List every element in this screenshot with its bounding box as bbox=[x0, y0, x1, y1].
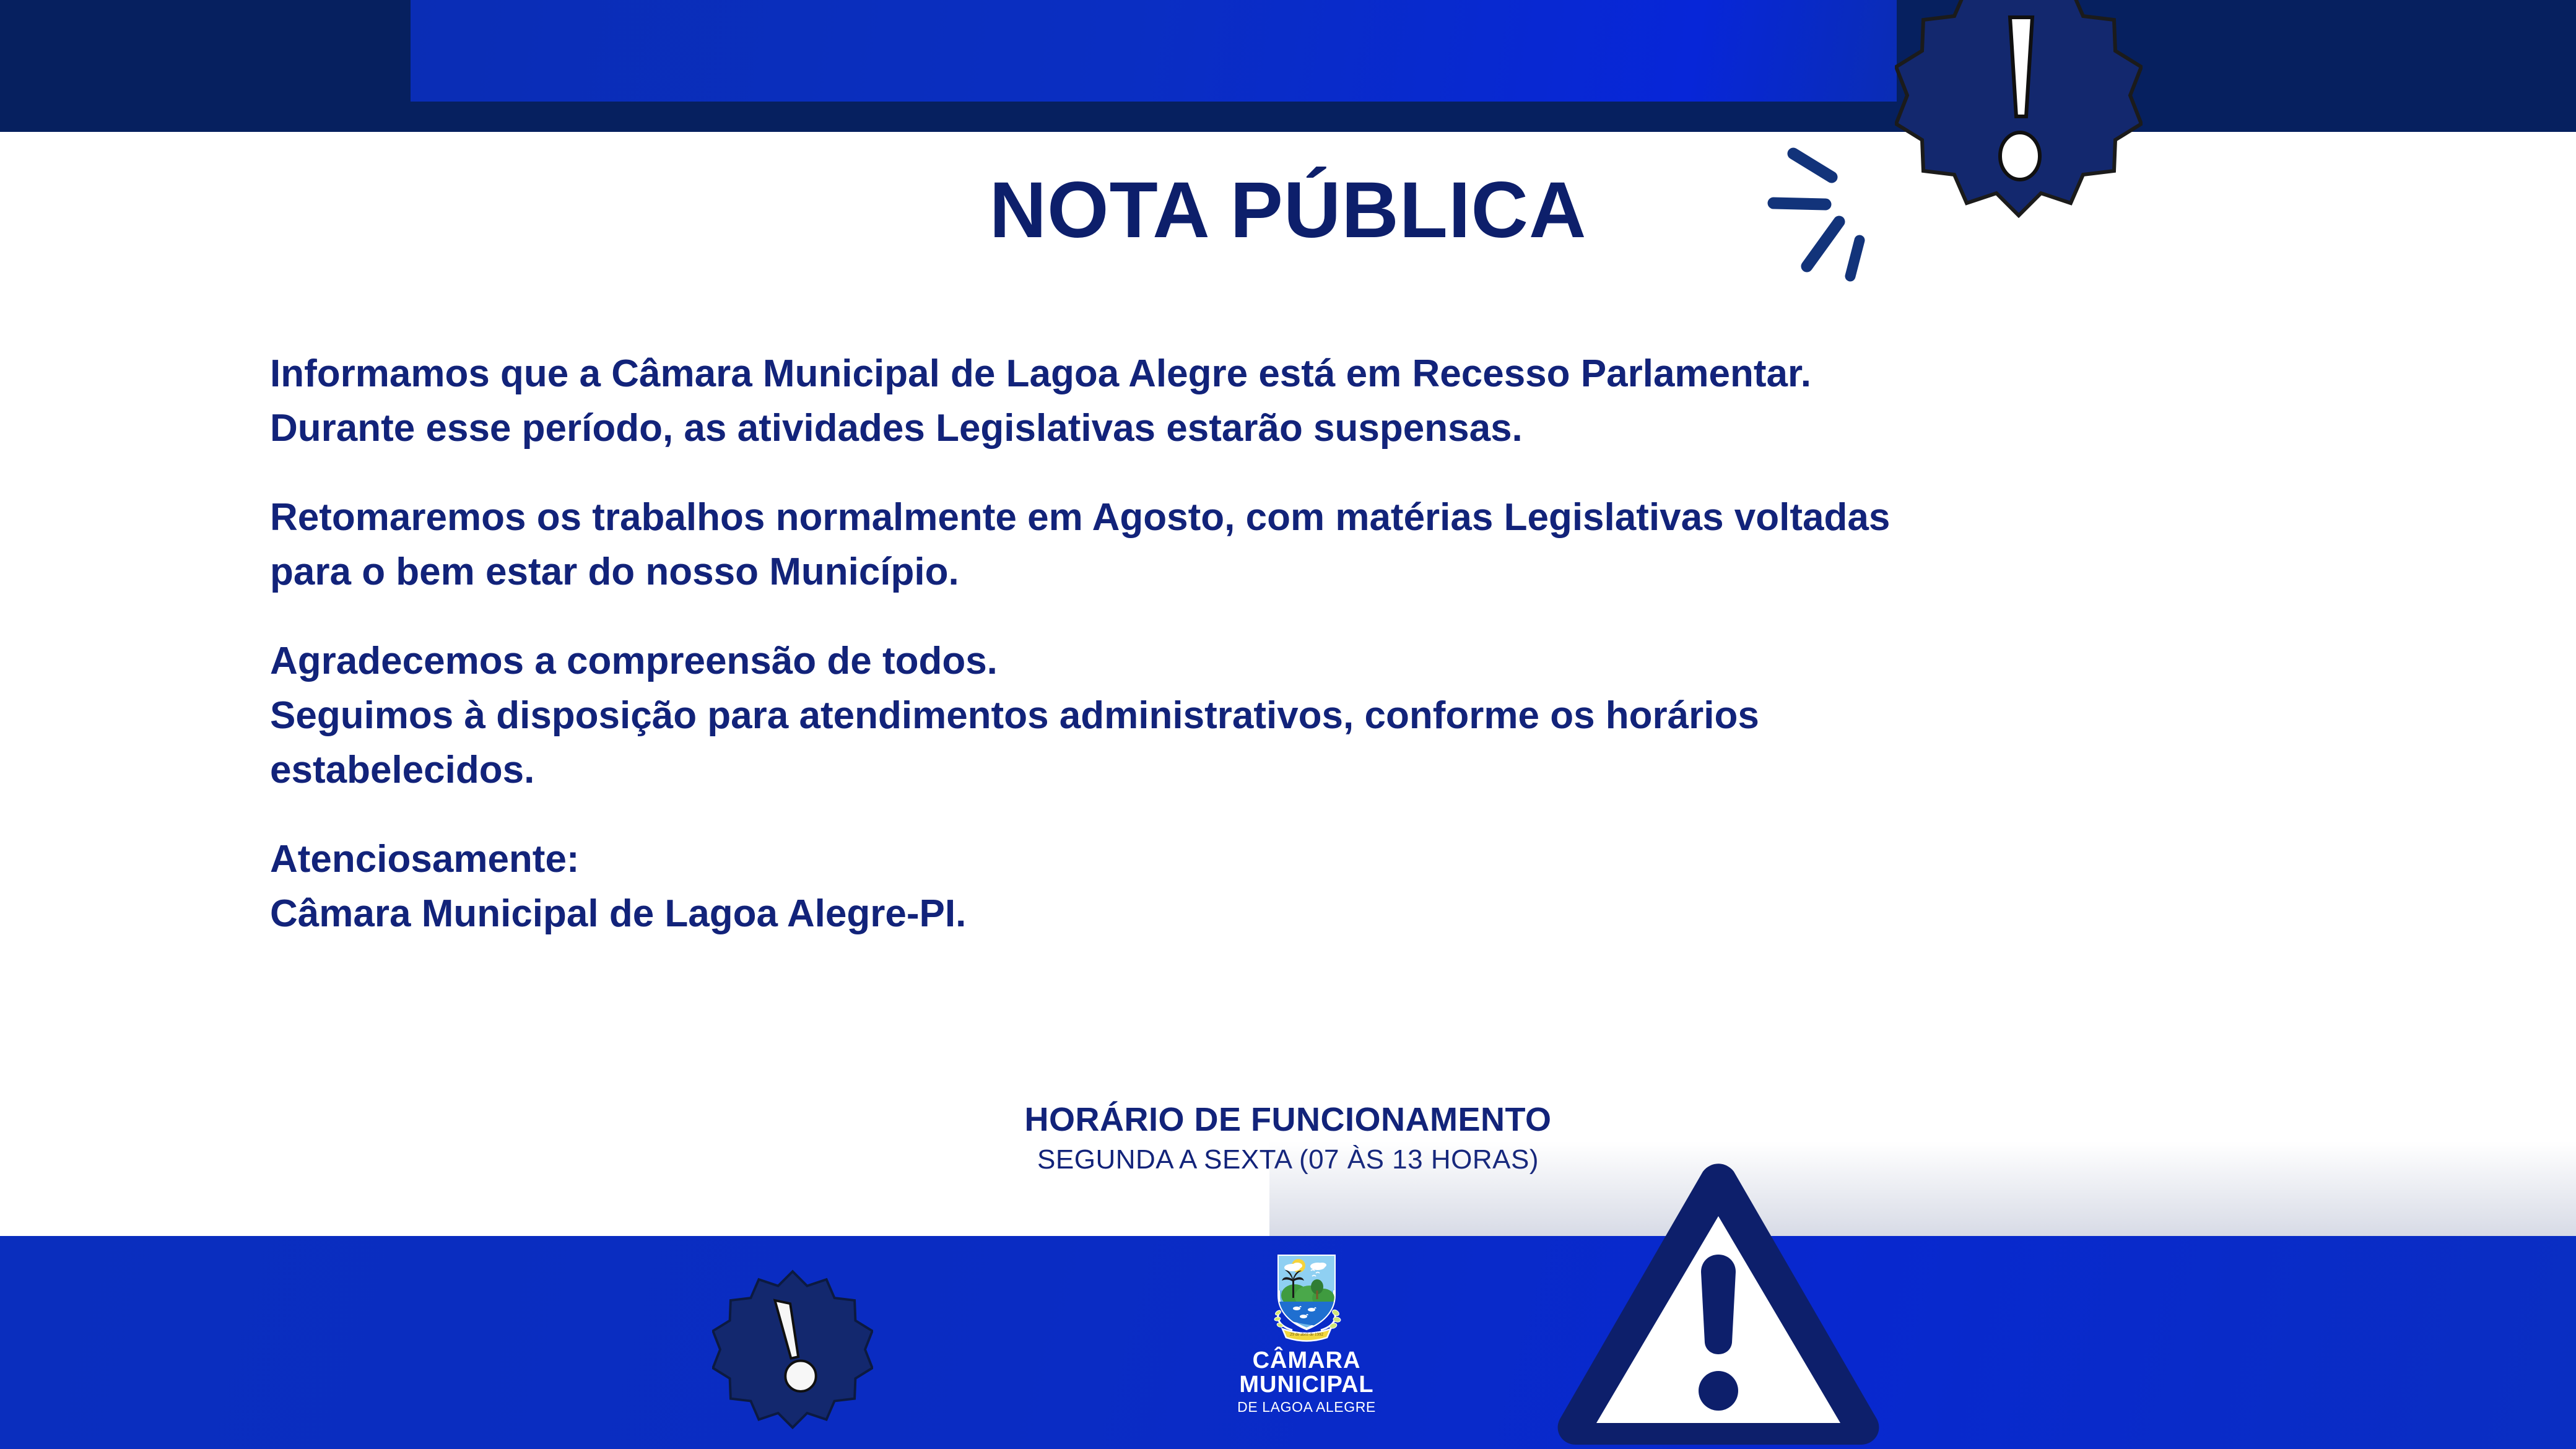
paragraph-1-line-1: Informamos que a Câmara Municipal de Lag… bbox=[270, 347, 2313, 401]
paragraph-3-line-2: Seguimos à disposição para atendimentos … bbox=[270, 689, 2313, 743]
opening-hours-title: HORÁRIO DE FUNCIONAMENTO bbox=[0, 1102, 2576, 1138]
page-title: NOTA PÚBLICA bbox=[0, 171, 2576, 250]
paragraph-3-line-1: Agradecemos a compreensão de todos. bbox=[270, 634, 2313, 689]
paragraph-2: Retomaremos os trabalhos normalmente em … bbox=[270, 490, 2313, 599]
paragraph-1-line-2: Durante esse período, as atividades Legi… bbox=[270, 401, 2313, 456]
exclamation-badge-icon bbox=[1895, 0, 2143, 218]
opening-hours-subtitle: SEGUNDA A SEXTA (07 ÀS 13 HORAS) bbox=[0, 1142, 2576, 1177]
warning-triangle-icon bbox=[1554, 1163, 1882, 1449]
footer-logo: 29 de abril de 1992 CÂMARA MUNICIPAL DE … bbox=[1214, 1251, 1399, 1416]
lagoa-alegre-coat-of-arms-icon: 29 de abril de 1992 bbox=[1269, 1251, 1344, 1344]
opening-hours-block: HORÁRIO DE FUNCIONAMENTO SEGUNDA A SEXTA… bbox=[0, 1102, 2576, 1177]
exclamation-badge-icon bbox=[712, 1268, 873, 1429]
logo-line-municipal: MUNICIPAL bbox=[1214, 1373, 1399, 1397]
notice-body: Informamos que a Câmara Municipal de Lag… bbox=[270, 347, 2313, 941]
poster-canvas: NOTA PÚBLICA Informamos que a Câmara Mun… bbox=[0, 0, 2576, 1449]
crest-ribbon-text: 29 de abril de 1992 bbox=[1290, 1332, 1324, 1337]
paragraph-2-line-1: Retomaremos os trabalhos normalmente em … bbox=[270, 490, 2313, 545]
paragraph-3: Agradecemos a compreensão de todos. Segu… bbox=[270, 634, 2313, 798]
signature-block: Atenciosamente: Câmara Municipal de Lago… bbox=[270, 832, 2313, 941]
signature-line-2: Câmara Municipal de Lagoa Alegre-PI. bbox=[270, 887, 2313, 941]
logo-line-city: DE LAGOA ALEGRE bbox=[1214, 1399, 1399, 1416]
paragraph-1: Informamos que a Câmara Municipal de Lag… bbox=[270, 347, 2313, 456]
top-band-bright bbox=[411, 0, 1897, 102]
logo-line-camara: CÂMARA bbox=[1214, 1349, 1399, 1373]
paragraph-2-line-2: para o bem estar do nosso Município. bbox=[270, 545, 2313, 599]
paragraph-3-line-3: estabelecidos. bbox=[270, 743, 2313, 798]
signature-line-1: Atenciosamente: bbox=[270, 832, 2313, 887]
